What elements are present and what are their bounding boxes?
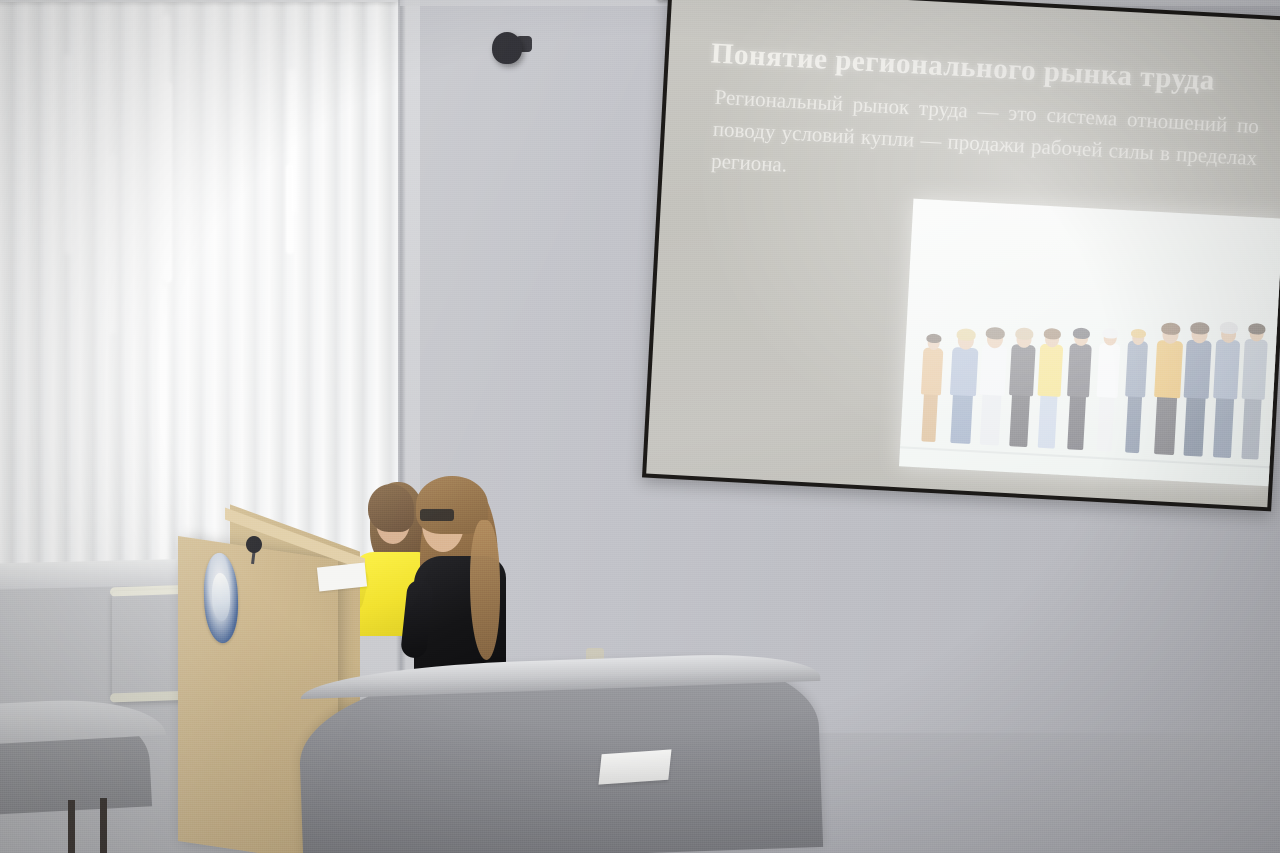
person-body [1096,343,1120,398]
side-table-leg [68,800,75,853]
illustration-person [1035,318,1065,449]
person-body [1038,344,1064,397]
window-glare [0,0,398,594]
person-hair [1102,328,1119,339]
glasses-icon [420,509,454,521]
person-body [1242,339,1268,400]
slide-body-text: Региональный рынок труда — это система о… [710,82,1259,207]
side-table-leg [100,798,107,853]
screen-frame: Понятие регионального рынка труда Регион… [642,0,1280,511]
person-hair [1190,322,1210,335]
illustration-person [977,321,1009,446]
person-hair [926,334,941,344]
slide-illustration [899,199,1280,487]
screen-surface: Понятие регионального рынка труда Регион… [646,0,1280,507]
illustration-person [1151,312,1185,455]
person-hair [1044,328,1062,340]
person-hair [1015,327,1034,340]
person-hair [1161,322,1181,335]
person-legs [950,392,973,444]
illustration-person [947,322,980,444]
illustration-person [1093,315,1121,452]
blinds-rail [0,0,398,2]
person-body [979,345,1007,396]
person-body [921,347,944,395]
lecture-room-photo: Понятие регионального рынка труда Регион… [0,0,1280,853]
illustration-person [1239,308,1270,460]
presenter-yellow-fringe [368,484,414,532]
illustration-person [1210,309,1242,458]
person-legs [1096,394,1114,452]
illustration-person [1006,319,1037,447]
person-body [1213,339,1240,399]
person-legs [1125,395,1142,454]
illustration-person [918,323,944,442]
person-hair [1248,323,1266,335]
paper-on-desk [598,749,671,784]
microphone-icon[interactable] [246,536,262,553]
person-legs [1242,396,1262,460]
person-hair [1131,329,1146,339]
person-legs [1154,394,1177,455]
person-legs [1038,393,1058,449]
presenter-black-hair-strand [470,520,500,660]
person-body [1125,340,1148,397]
person-legs [980,393,1002,446]
person-hair [957,328,977,341]
person-hair [1072,327,1090,339]
person-hair [985,327,1005,340]
person-body [1067,343,1092,397]
person-legs [1009,393,1030,447]
person-legs [1183,395,1205,457]
presenter-notes-paper [317,563,367,592]
illustration-person [1122,313,1149,453]
window [0,0,398,594]
people-illustration-row [914,241,1274,460]
person-body [1154,340,1183,398]
projection-screen: Понятие регионального рынка труда Регион… [641,0,1280,523]
person-legs [1213,395,1234,458]
person-body [1008,344,1035,396]
person-legs [921,391,938,442]
person-body [1184,340,1212,399]
security-camera-icon [492,32,522,64]
person-legs [1067,393,1086,450]
illustration-person [1064,316,1093,450]
person-body [950,347,979,396]
illustration-person [1180,311,1213,457]
person-hair [1219,321,1238,334]
